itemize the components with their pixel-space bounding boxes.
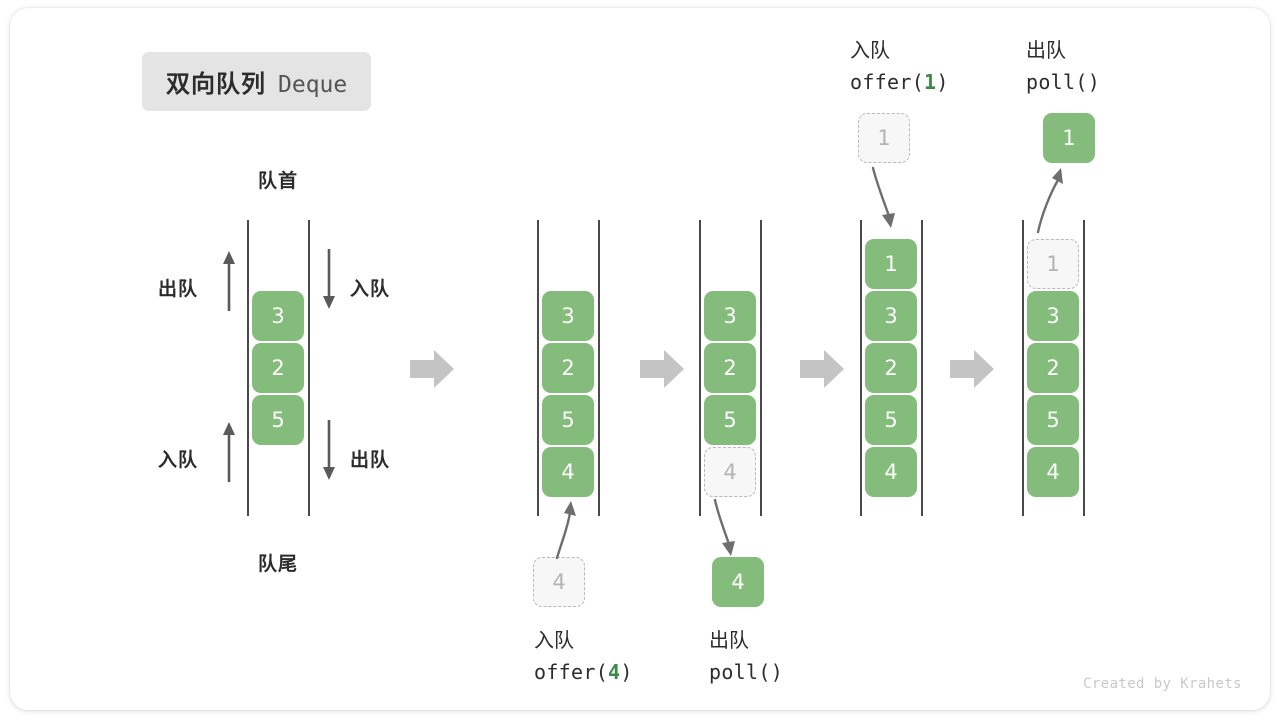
cell-col4-0: 1 bbox=[865, 239, 917, 289]
step-arrow-2 bbox=[640, 348, 684, 390]
side-label-top-right: 入队 bbox=[350, 274, 390, 301]
cell-col4-1: 3 bbox=[865, 291, 917, 341]
rail-left-col5 bbox=[1022, 220, 1024, 516]
title-badge: 双向队列 Deque bbox=[142, 52, 371, 111]
curved-arrow-col3 bbox=[710, 500, 744, 560]
external-cell-col5: 1 bbox=[1043, 113, 1095, 163]
rail-right-col3 bbox=[760, 220, 762, 516]
cell-col5-2: 2 bbox=[1027, 343, 1079, 393]
op-label-col2: 入队 offer(4) bbox=[534, 626, 633, 688]
op-label-col4: 入队 offer(1) bbox=[850, 36, 949, 98]
cell-col4-4: 4 bbox=[865, 447, 917, 497]
rail-right-col1 bbox=[308, 220, 310, 516]
curved-arrow-col4 bbox=[870, 168, 904, 232]
cell-col5-3: 5 bbox=[1027, 395, 1079, 445]
step-arrow-4 bbox=[950, 348, 994, 390]
external-cell-col2: 4 bbox=[533, 557, 585, 607]
curved-arrow-col5 bbox=[1032, 166, 1070, 234]
cell-col2-3: 4 bbox=[542, 447, 594, 497]
curved-arrow-col2 bbox=[548, 498, 582, 560]
rail-left-col4 bbox=[860, 220, 862, 516]
cell-col2-0: 3 bbox=[542, 291, 594, 341]
op-label-col5: 出队 poll() bbox=[1026, 36, 1100, 98]
arrow-down-bottom-right bbox=[320, 420, 338, 482]
op-label-col3: 出队 poll() bbox=[709, 626, 783, 688]
cell-col5-4: 4 bbox=[1027, 447, 1079, 497]
step-arrow-1 bbox=[410, 348, 454, 390]
cell-col5-1: 3 bbox=[1027, 291, 1079, 341]
cell-col1-0: 3 bbox=[252, 291, 304, 341]
diagram-card: 双向队列 Deque 队首 队尾 3 2 5 出队 入队 入队 bbox=[10, 8, 1270, 710]
cell-col3-0: 3 bbox=[704, 291, 756, 341]
cell-col4-2: 2 bbox=[865, 343, 917, 393]
cell-col1-1: 2 bbox=[252, 343, 304, 393]
cell-col1-2: 5 bbox=[252, 395, 304, 445]
rail-left-col1 bbox=[247, 220, 249, 516]
side-label-bottom-left: 入队 bbox=[158, 445, 198, 472]
rail-right-col4 bbox=[921, 220, 923, 516]
title-chinese: 双向队列 bbox=[166, 64, 266, 99]
rail-right-col5 bbox=[1083, 220, 1085, 516]
rail-left-col3 bbox=[699, 220, 701, 516]
head-label: 队首 bbox=[248, 166, 308, 193]
arrow-up-bottom-left bbox=[220, 420, 238, 482]
cell-col3-3-ghost: 4 bbox=[704, 447, 756, 497]
external-cell-col4: 1 bbox=[858, 113, 910, 163]
cell-col4-3: 5 bbox=[865, 395, 917, 445]
arrow-down-top-right bbox=[320, 249, 338, 311]
cell-col2-1: 2 bbox=[542, 343, 594, 393]
rail-left-col2 bbox=[537, 220, 539, 516]
side-label-top-left: 出队 bbox=[158, 274, 198, 301]
arrow-up-top-left bbox=[220, 249, 238, 311]
title-english: Deque bbox=[278, 72, 347, 98]
cell-col3-2: 5 bbox=[704, 395, 756, 445]
cell-col2-2: 5 bbox=[542, 395, 594, 445]
side-label-bottom-right: 出队 bbox=[350, 445, 390, 472]
cell-col3-1: 2 bbox=[704, 343, 756, 393]
credit-text: Created by Krahets bbox=[1083, 676, 1242, 692]
step-arrow-3 bbox=[800, 348, 844, 390]
external-cell-col3: 4 bbox=[712, 557, 764, 607]
rail-right-col2 bbox=[598, 220, 600, 516]
tail-label: 队尾 bbox=[248, 549, 308, 576]
cell-col5-0-ghost: 1 bbox=[1027, 239, 1079, 289]
